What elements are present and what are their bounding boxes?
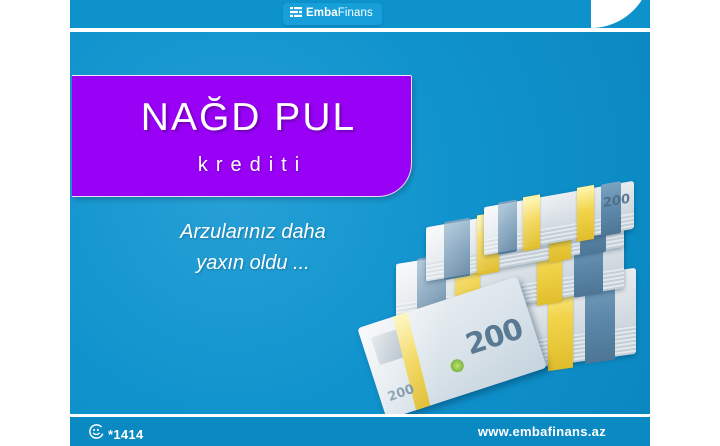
brand-logo-text: EmbaFinans — [306, 8, 373, 20]
call-center-number: *1414 — [108, 427, 143, 442]
call-center-smiley-icon — [88, 423, 105, 445]
tagline: Arzularınız daha yaxın oldu ... — [108, 217, 398, 279]
brand-logo[interactable]: EmbaFinans — [283, 3, 382, 25]
footer-bar: *1414 www.embafinans.az — [70, 417, 650, 446]
banknote-corner-value: 200 — [386, 381, 417, 404]
tagline-line-2: yaxın oldu ... — [108, 248, 398, 279]
header-bar: EmbaFinans — [70, 0, 650, 28]
banknote-seal-icon — [449, 357, 465, 373]
bars-logo-icon — [290, 5, 302, 23]
call-center-contact[interactable]: *1414 — [88, 423, 143, 445]
front-banknote: 200 200 — [357, 276, 546, 414]
advertisement-banner: EmbaFinans NAĞD PUL krediti Arzularınız … — [0, 0, 720, 446]
headline-text: NAĞD PUL — [127, 98, 356, 137]
brand-name-primary: Emba — [306, 7, 338, 19]
tagline-line-1: Arzularınız daha — [108, 217, 398, 248]
header-corner-sweep — [591, 0, 650, 28]
money-stacks-illustration: 200 200 200 200 — [366, 192, 650, 414]
main-panel: NAĞD PUL krediti Arzularınız daha yaxın … — [70, 32, 650, 414]
subheadline-text: krediti — [176, 155, 307, 175]
website-url[interactable]: www.embafinans.az — [478, 424, 606, 439]
banknote-face-value: 200 — [461, 311, 526, 361]
headline-banner: NAĞD PUL krediti — [72, 75, 412, 197]
brand-name-secondary: Finans — [338, 7, 373, 19]
